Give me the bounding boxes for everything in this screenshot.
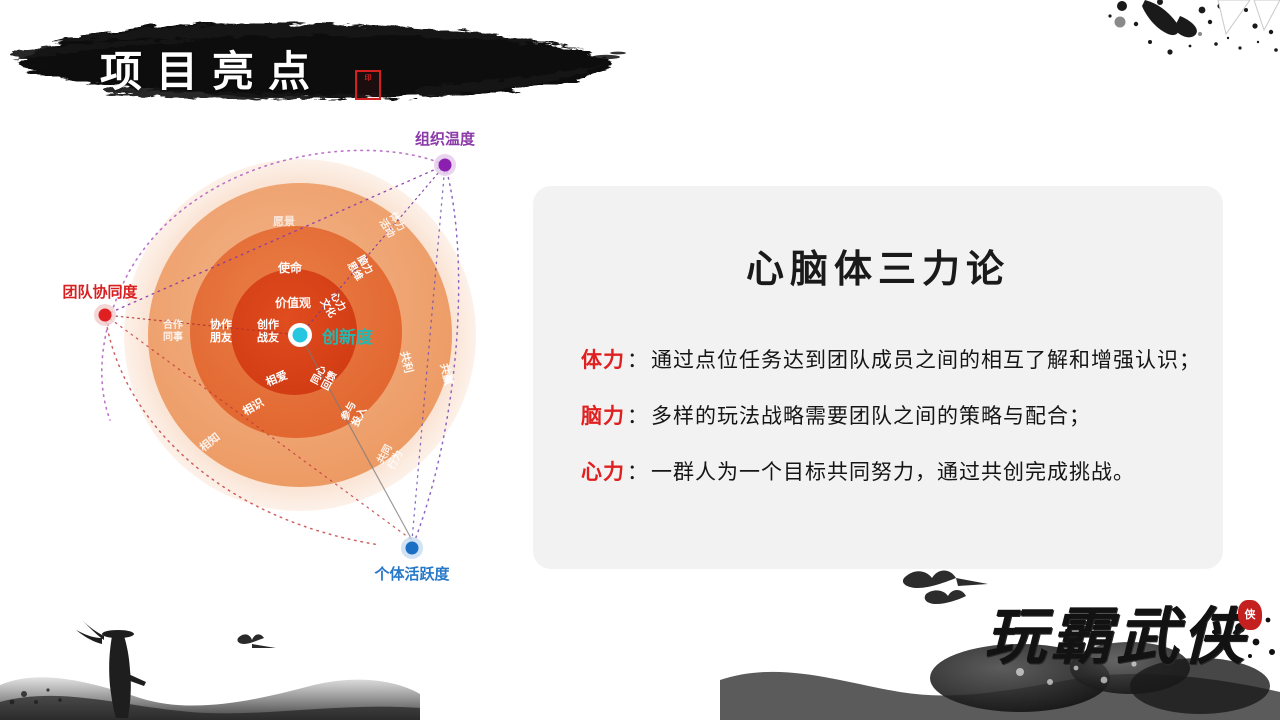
- ink-swordsman-decoration-icon: [0, 590, 420, 720]
- axis-label-organizational-temperature: 组织温度: [415, 130, 476, 148]
- row-value-xinli: 一群人为一个目标共同努力，通过共创完成挑战。: [651, 456, 1135, 486]
- ring-label-inner-top: 价值观: [275, 295, 311, 310]
- axis-label-individual-activity: 个体活跃度: [373, 565, 450, 583]
- axis-label-team-collaboration: 团队协同度: [62, 283, 138, 301]
- ink-splatter-icon: [1050, 0, 1280, 120]
- title-banner: 项目亮点 印: [8, 8, 628, 106]
- row-sep-0: ：: [627, 344, 649, 374]
- row-sep-1: ：: [627, 400, 649, 430]
- row-value-naoli: 多样的玩法战略需要团队之间的策略与配合；: [651, 400, 1091, 430]
- brand-logo: 玩霸武侠 侠: [984, 606, 1248, 668]
- ring-label-inner-left-2: 战友: [257, 330, 279, 344]
- panel-list: 体力 ： 通过点位任务达到团队成员之间的相互了解和增强认识； 脑力 ： 多样的玩…: [581, 344, 1193, 512]
- ring-label-middle-top: 使命: [277, 260, 303, 275]
- row-value-tili: 通过点位任务达到团队成员之间的相互了解和增强认识；: [651, 344, 1201, 374]
- seal-stamp: 印: [355, 70, 381, 100]
- center-label: 创新度: [321, 327, 374, 348]
- list-item: 体力 ： 通过点位任务达到团队成员之间的相互了解和增强认识；: [581, 344, 1193, 374]
- axis-node-blue: [401, 537, 423, 559]
- ring-label-outer-left-2: 同事: [163, 330, 183, 343]
- concentric-model-diagram: 愿景 使命 价值观 合作 同事 协作 朋友 创作 战友 相爱 相识 相知 心力 …: [0, 120, 520, 590]
- ring-label-middle-left-2: 朋友: [209, 330, 232, 344]
- row-key-tili: 体力: [581, 344, 625, 374]
- row-sep-2: ：: [627, 456, 649, 486]
- brand-name: 玩霸武侠: [984, 606, 1248, 668]
- panel-title: 心脑体三力论: [533, 238, 1223, 293]
- brand-seal: 侠: [1238, 600, 1262, 630]
- slide-root: 项目亮点 印: [0, 0, 1280, 720]
- axis-node-red: [94, 304, 116, 326]
- center-node: [288, 323, 312, 347]
- ring-label-outer-top: 愿景: [273, 215, 295, 228]
- theory-panel: 心脑体三力论 体力 ： 通过点位任务达到团队成员之间的相互了解和增强认识； 脑力…: [533, 186, 1223, 569]
- row-key-xinli: 心力: [581, 456, 625, 486]
- list-item: 脑力 ： 多样的玩法战略需要团队之间的策略与配合；: [581, 400, 1193, 430]
- axis-node-purple: [434, 154, 456, 176]
- ring-label-inner-left-1: 创作: [256, 317, 279, 331]
- page-title: 项目亮点: [100, 38, 324, 99]
- list-item: 心力 ： 一群人为一个目标共同努力，通过共创完成挑战。: [581, 456, 1193, 486]
- row-key-naoli: 脑力: [581, 400, 625, 430]
- ring-label-outer-left-1: 合作: [162, 318, 183, 331]
- ring-label-middle-left-1: 协作: [210, 317, 232, 331]
